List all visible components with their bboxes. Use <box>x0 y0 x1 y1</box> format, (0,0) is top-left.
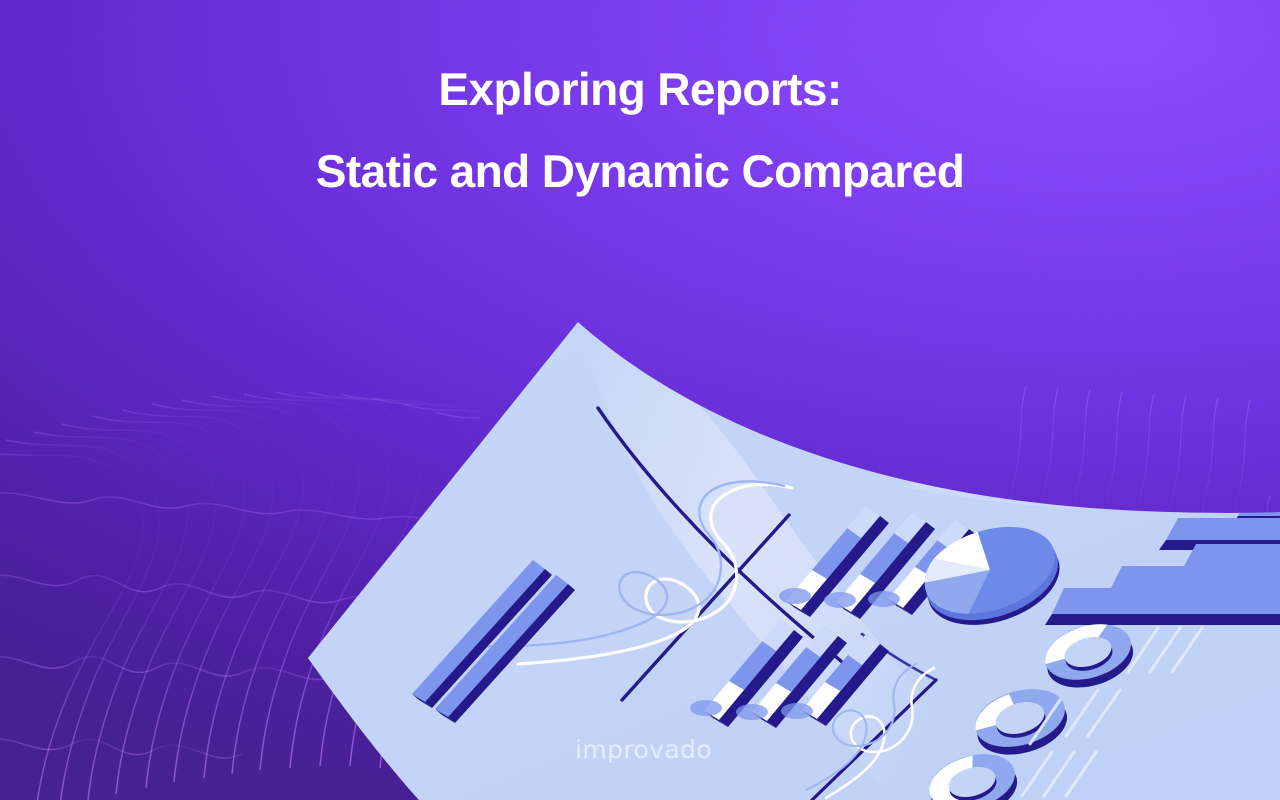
hbar-5 <box>1052 588 1280 614</box>
report-sheet-illustration <box>0 0 1280 800</box>
hbar-5-shadow <box>1045 614 1280 625</box>
hbar-4 <box>1110 566 1280 590</box>
hbar-1 <box>1238 496 1280 516</box>
hbar-2 <box>1166 518 1280 540</box>
banner-root: Exploring Reports: Static and Dynamic Co… <box>0 0 1280 800</box>
hbar-3 <box>1184 544 1280 566</box>
